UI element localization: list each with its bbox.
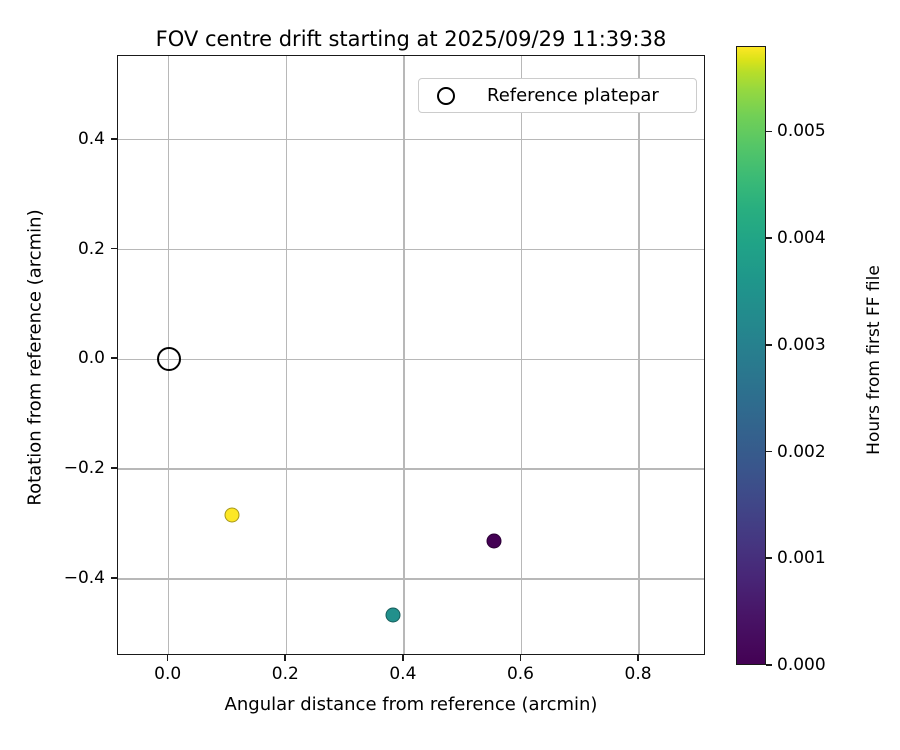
colorbar-tick-mark [766, 131, 772, 133]
colorbar-tick-mark [766, 237, 772, 239]
x-gridline [638, 56, 639, 654]
y-tick-label: 0.4 [78, 129, 105, 149]
colorbar-tick-mark [766, 451, 772, 453]
x-tick-mark [520, 655, 522, 661]
colorbar [736, 46, 766, 665]
y-gridline [118, 578, 704, 579]
x-tick-label: 0.6 [507, 664, 534, 684]
colorbar-tick-label: 0.003 [777, 335, 826, 355]
x-gridline [403, 56, 404, 654]
y-gridline [118, 468, 704, 469]
colorbar-tick-label: 0.000 [777, 655, 826, 675]
y-tick-mark [111, 467, 117, 469]
x-tick-mark [637, 655, 639, 661]
x-tick-mark [402, 655, 404, 661]
colorbar-tick-mark [766, 344, 772, 346]
reference-platepar-marker-icon [437, 87, 455, 105]
y-tick-label: 0.0 [78, 348, 105, 368]
legend-box: Reference platepar [418, 78, 697, 113]
colorbar-tick-label: 0.002 [777, 442, 826, 462]
x-tick-label: 0.0 [154, 664, 181, 684]
x-tick-label: 0.2 [272, 664, 299, 684]
y-tick-mark [111, 138, 117, 140]
x-tick-label: 0.8 [625, 664, 652, 684]
y-gridline [118, 359, 704, 360]
x-tick-label: 0.4 [389, 664, 416, 684]
y-gridline [118, 139, 704, 140]
y-tick-label: −0.4 [64, 568, 105, 588]
x-axis-label: Angular distance from reference (arcmin) [117, 694, 705, 715]
plot-area [117, 55, 705, 655]
colorbar-tick-label: 0.001 [777, 548, 826, 568]
y-tick-mark [111, 577, 117, 579]
y-tick-label: −0.2 [64, 458, 105, 478]
y-tick-label: 0.2 [78, 239, 105, 259]
x-gridline [521, 56, 522, 654]
y-axis-label: Rotation from reference (arcmin) [25, 58, 46, 658]
chart-title: FOV centre drift starting at 2025/09/29 … [117, 27, 705, 51]
data-point [486, 533, 501, 548]
x-gridline [286, 56, 287, 654]
legend-entry-label: Reference platepar [487, 85, 659, 106]
colorbar-tick-mark [766, 557, 772, 559]
data-point [224, 507, 239, 522]
colorbar-tick-label: 0.005 [777, 121, 826, 141]
colorbar-label: Hours from first FF file [864, 50, 884, 670]
y-tick-mark [111, 357, 117, 359]
x-tick-mark [284, 655, 286, 661]
colorbar-tick-mark [766, 664, 772, 666]
colorbar-gradient [736, 46, 766, 665]
figure-canvas: FOV centre drift starting at 2025/09/29 … [0, 0, 900, 750]
reference-platepar-marker [157, 347, 181, 371]
x-tick-mark [167, 655, 169, 661]
y-tick-mark [111, 248, 117, 250]
data-point [386, 608, 401, 623]
colorbar-tick-label: 0.004 [777, 228, 826, 248]
y-gridline [118, 249, 704, 250]
